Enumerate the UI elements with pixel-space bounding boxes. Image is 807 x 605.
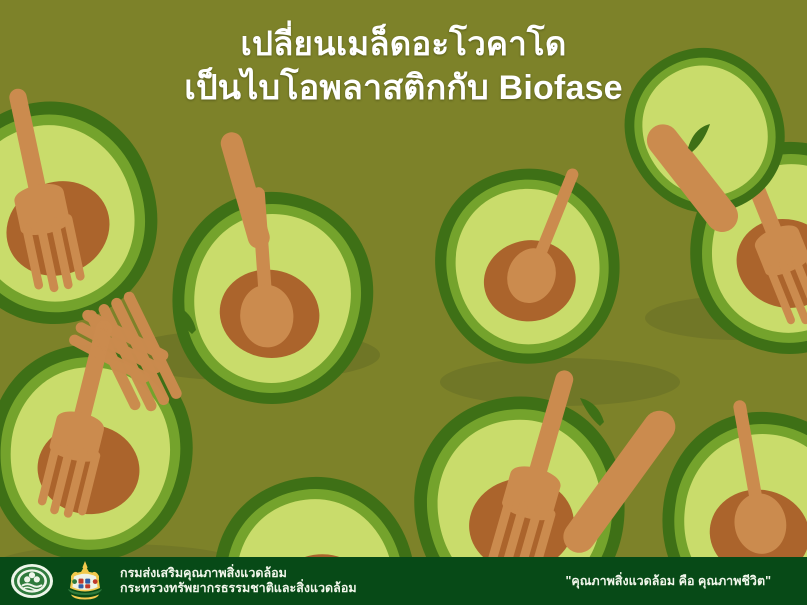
footer-slogan: "คุณภาพสิ่งแวดล้อม คือ คุณภาพชีวิต" <box>565 571 771 591</box>
org-ministry-name: กระทรวงทรัพยากรธรรมชาติและสิ่งแวดล้อม <box>120 581 357 596</box>
deqp-emblem-icon <box>10 561 54 601</box>
footer-bar: กรมส่งเสริมคุณภาพสิ่งแวดล้อม กระทรวงทรัพ… <box>0 557 807 605</box>
footer-logo-group <box>10 560 108 602</box>
mnre-garuda-emblem-icon <box>62 560 108 602</box>
poster-canvas: เปลี่ยนเมล็ดอะโวคาโด เป็นไบโอพลาสติกกับ … <box>0 0 807 605</box>
avocado-pattern-illustration <box>0 0 807 605</box>
footer-organization: กรมส่งเสริมคุณภาพสิ่งแวดล้อม กระทรวงทรัพ… <box>120 566 357 597</box>
org-department-name: กรมส่งเสริมคุณภาพสิ่งแวดล้อม <box>120 566 357 581</box>
